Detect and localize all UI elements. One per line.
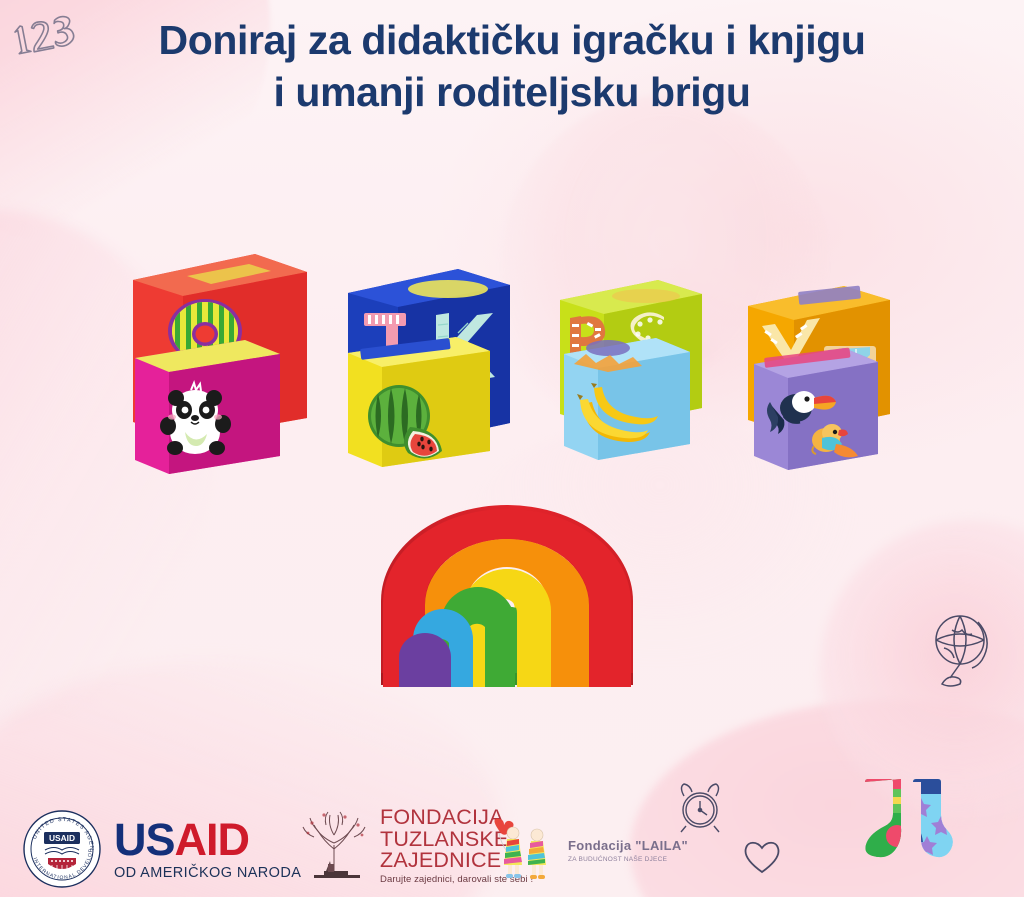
tree-icon	[300, 809, 372, 883]
laila-subtitle: ZA BUDUĆNOST NAŠE DJECE	[568, 856, 688, 863]
svg-text:USAID: USAID	[49, 833, 75, 843]
usaid-wordmark-aid: AID	[175, 814, 250, 865]
poster-canvas: Doniraj za didaktičku igračku i knjigu i…	[0, 0, 1024, 897]
usaid-wordmark: USAID	[114, 817, 301, 862]
block-group-3	[552, 268, 717, 473]
logo-usaid: UNITED STATES AGENCY INTERNATIONAL DEVEL…	[22, 809, 301, 889]
wooden-blocks-group	[0, 0, 1024, 520]
logo-fondacija-laila: Fondacija "LAILA" ZA BUDUĆNOST NAŠE DJEC…	[488, 817, 688, 879]
usaid-tagline: OD AMERIČKOG NARODA	[114, 865, 301, 881]
partner-logo-bar: UNITED STATES AGENCY INTERNATIONAL DEVEL…	[0, 795, 1024, 897]
globe-icon	[922, 608, 1000, 699]
usaid-seal-icon: UNITED STATES AGENCY INTERNATIONAL DEVEL…	[22, 809, 102, 889]
two-children-balloon-icon	[488, 817, 558, 879]
laila-title: Fondacija "LAILA"	[568, 839, 688, 853]
block-group-1	[125, 240, 315, 485]
rainbow-stacker-arches	[375, 505, 640, 695]
block-group-2	[338, 255, 528, 490]
usaid-wordmark-us: US	[114, 814, 175, 865]
block-group-4	[740, 272, 910, 477]
background-blob-right	[820, 520, 1024, 820]
